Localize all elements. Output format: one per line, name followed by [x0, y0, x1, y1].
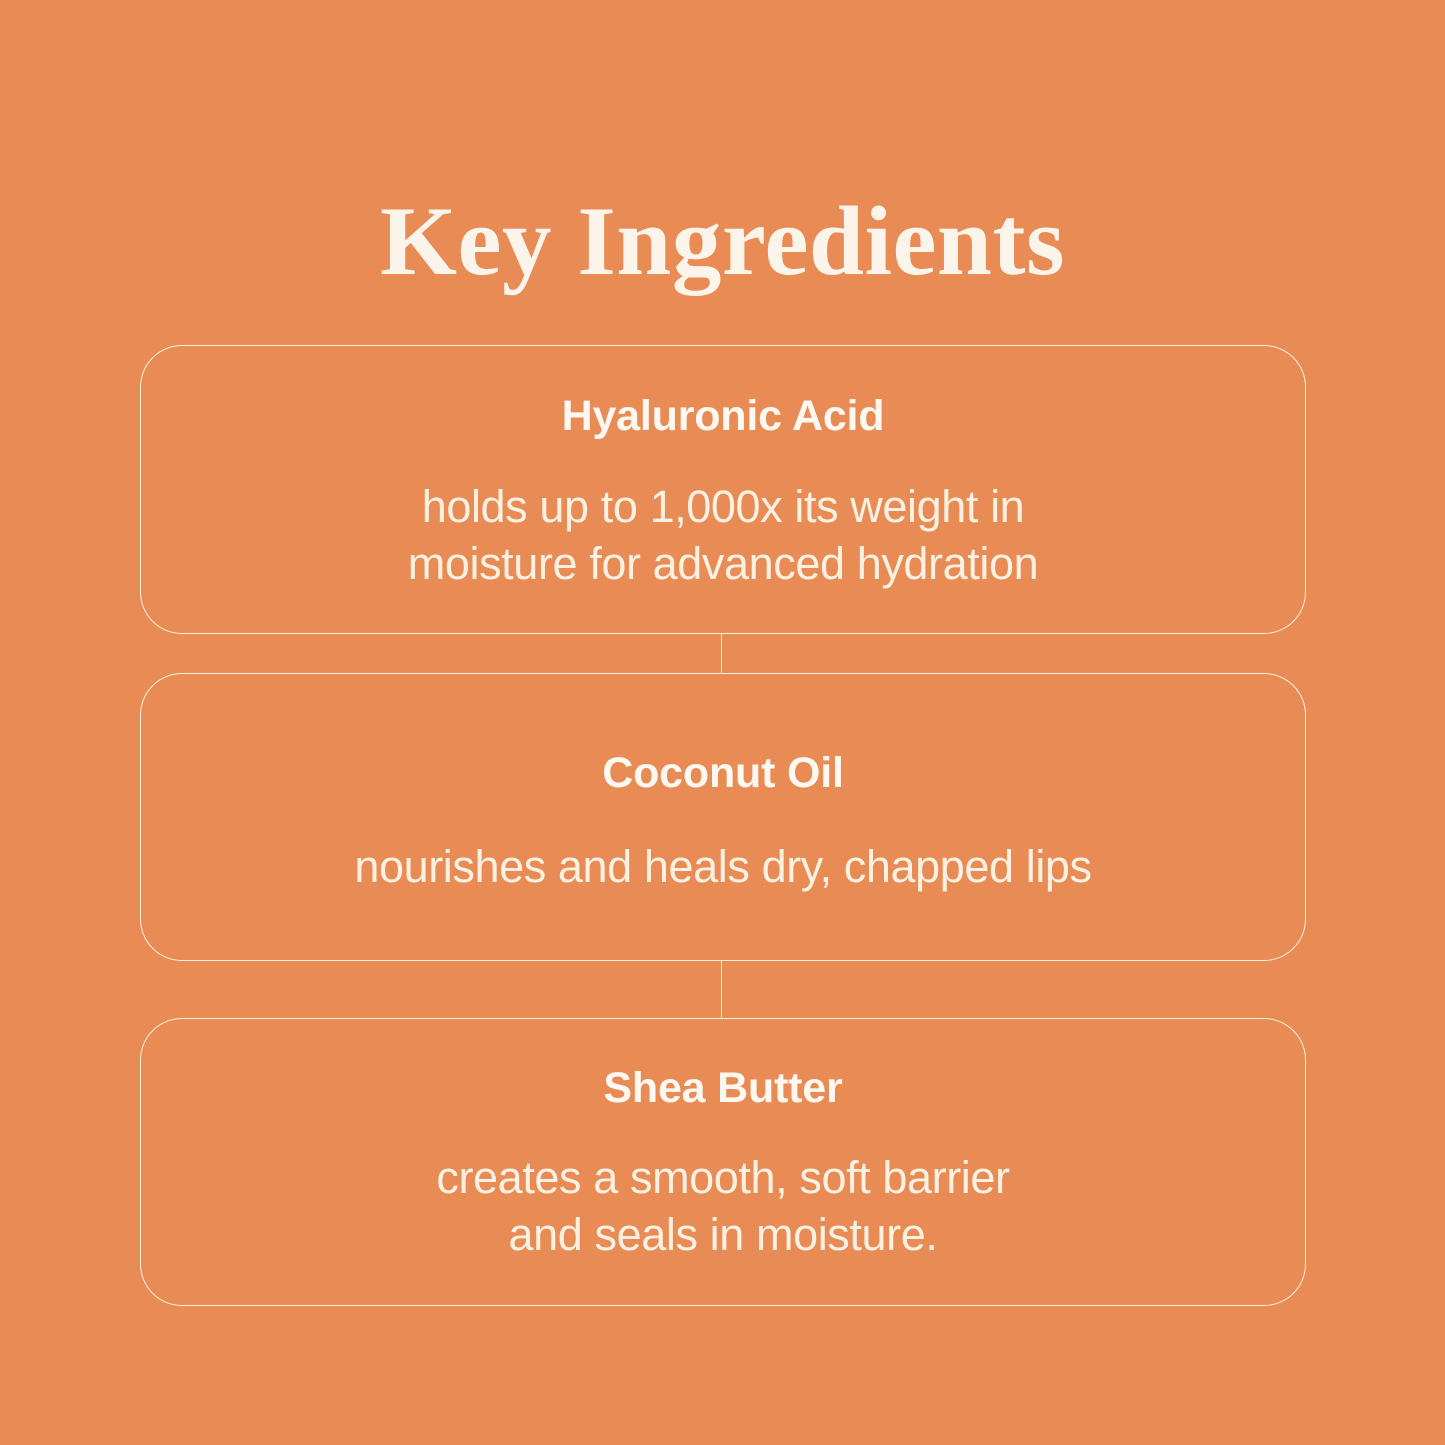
ingredient-card-shea-butter[interactable]: Shea Butter creates a smooth, soft barri…: [140, 1018, 1306, 1306]
ingredient-heading: Shea Butter: [603, 1065, 842, 1112]
ingredient-description: nourishes and heals dry, chapped lips: [354, 839, 1091, 896]
connector-line-1: [721, 634, 722, 673]
ingredient-card-hyaluronic-acid[interactable]: Hyaluronic Acid holds up to 1,000x its w…: [140, 345, 1306, 634]
ingredient-description: creates a smooth, soft barrier and seals…: [436, 1150, 1009, 1263]
ingredient-heading: Coconut Oil: [602, 750, 843, 797]
connector-line-2: [721, 961, 722, 1018]
ingredient-card-coconut-oil[interactable]: Coconut Oil nourishes and heals dry, cha…: [140, 673, 1306, 961]
ingredient-heading: Hyaluronic Acid: [562, 393, 885, 440]
page-title: Key Ingredients: [0, 192, 1445, 291]
key-ingredients-infographic: Key Ingredients Hyaluronic Acid holds up…: [0, 0, 1445, 1445]
ingredient-card-stack: Hyaluronic Acid holds up to 1,000x its w…: [140, 345, 1306, 1305]
ingredient-description: holds up to 1,000x its weight in moistur…: [408, 479, 1038, 592]
